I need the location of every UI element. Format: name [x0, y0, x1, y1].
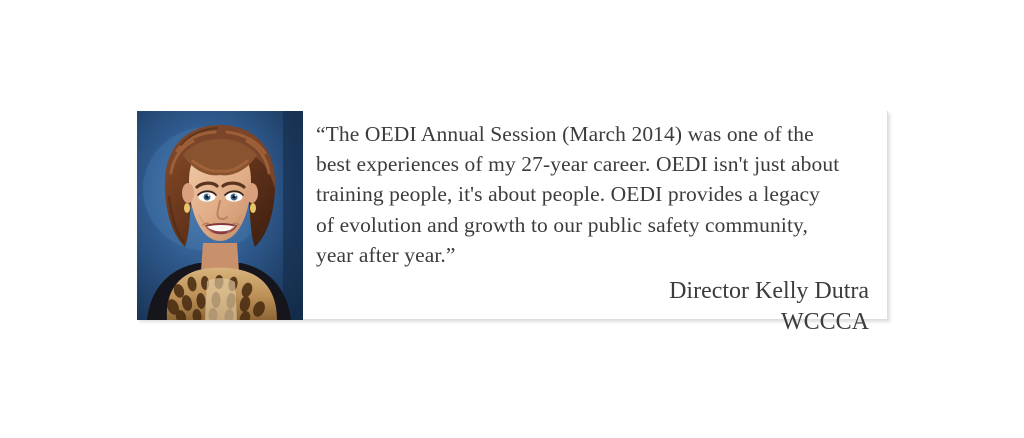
quote-column: “The OEDI Annual Session (March 2014) wa…	[303, 111, 887, 319]
portrait-illustration	[137, 111, 303, 320]
portrait-photo	[137, 111, 303, 320]
attribution-organization: WCCCA	[312, 307, 869, 338]
attribution: Director Kelly Dutra WCCCA	[312, 276, 877, 338]
earring-left	[184, 203, 190, 213]
quote-text: “The OEDI Annual Session (March 2014) wa…	[312, 119, 877, 270]
earring-right	[250, 203, 256, 213]
testimonial-card: “The OEDI Annual Session (March 2014) wa…	[137, 111, 888, 320]
attribution-name: Director Kelly Dutra	[312, 276, 869, 307]
